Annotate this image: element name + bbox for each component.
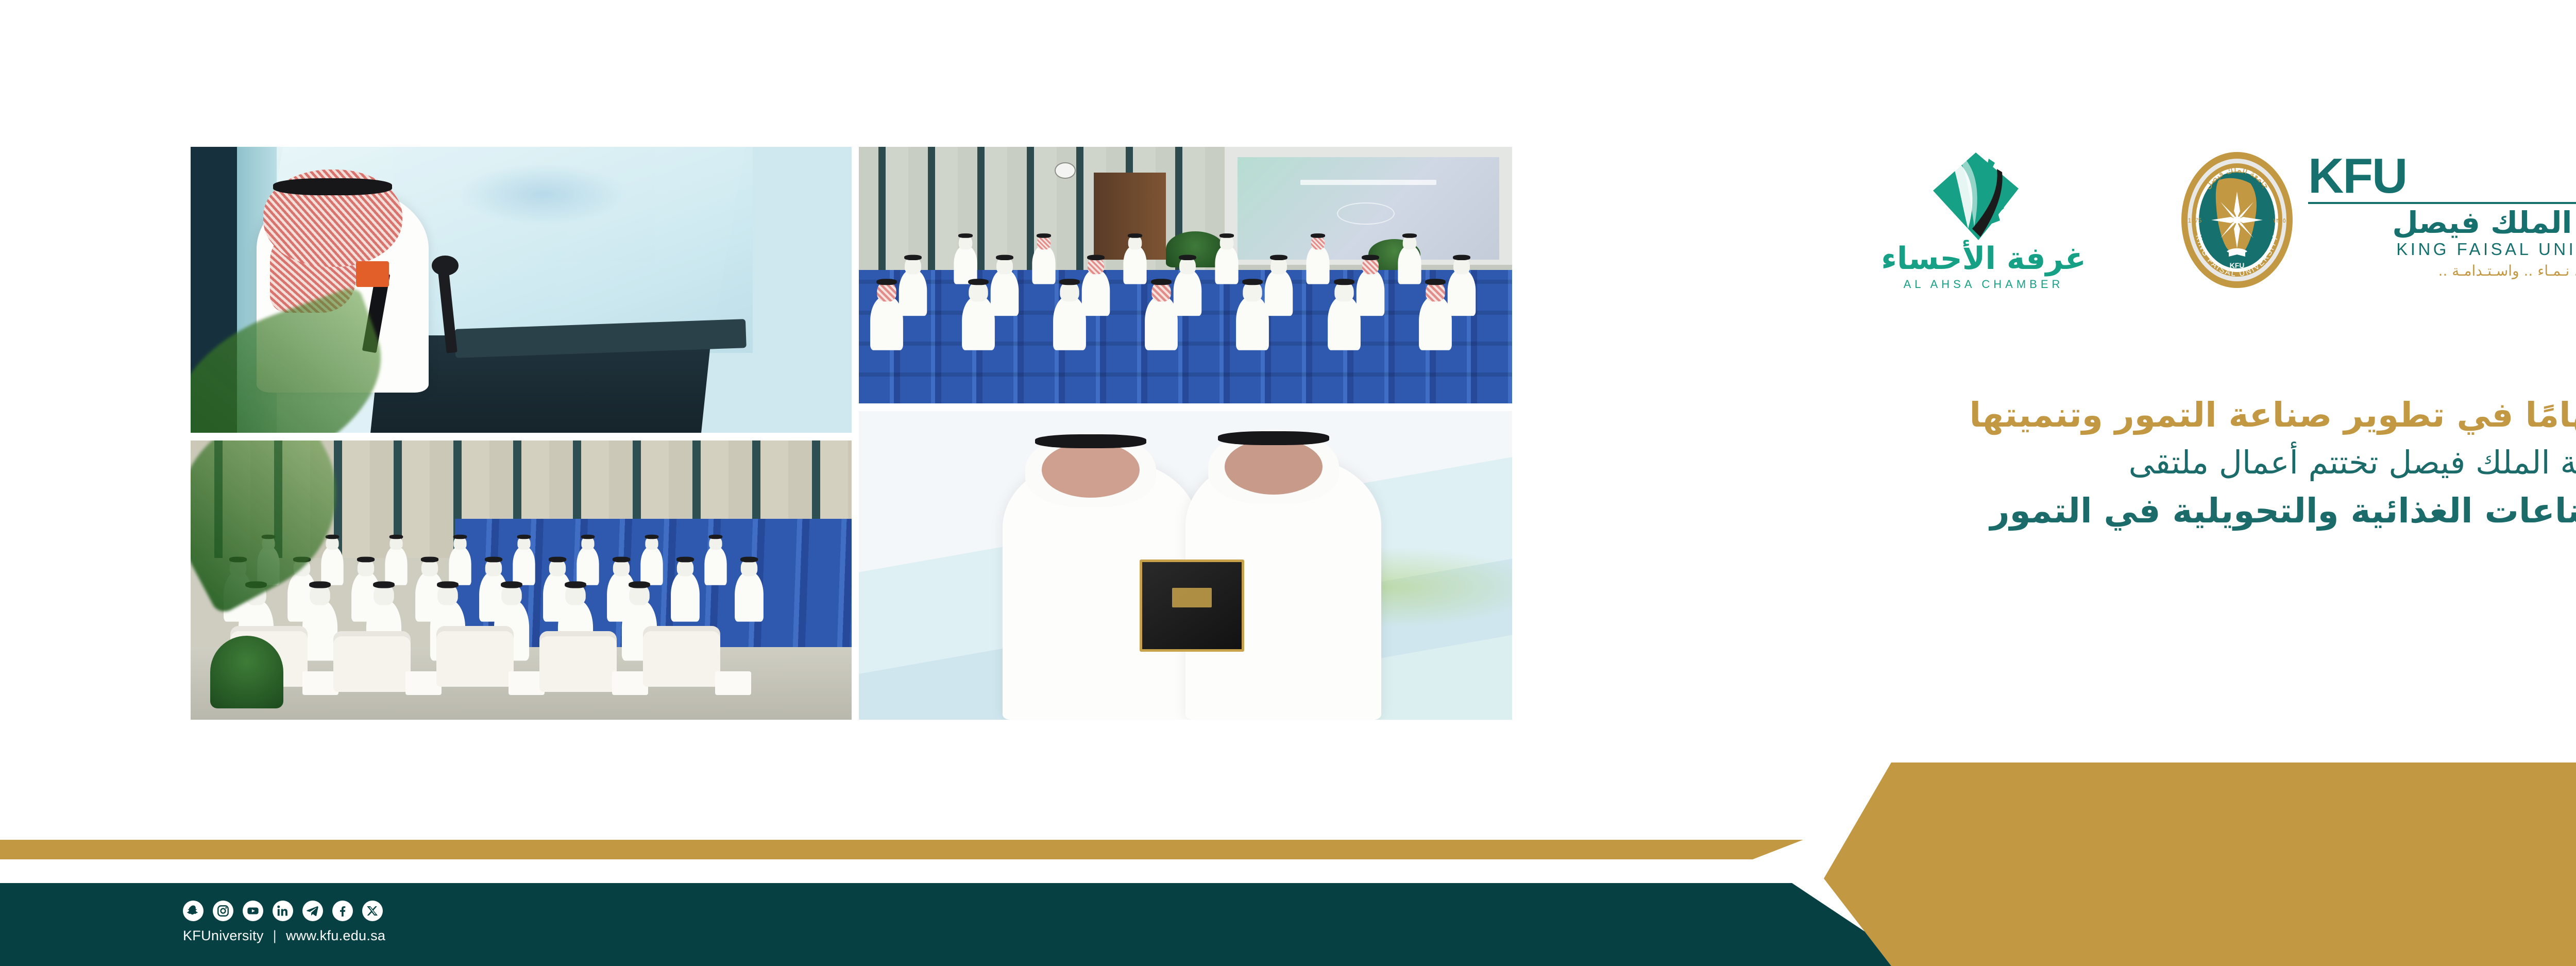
banner-root: غرفة الأحساء AL AHSA CHAMBER — [0, 0, 2576, 966]
headline-block: إسهامًا في تطوير صناعة التمور وتنميتها ج… — [1578, 392, 2576, 535]
kfu-english-name: KING FAISAL UNIVERSITY — [2308, 240, 2576, 259]
headline-line-2: جامعة الملك فيصل تختتم أعمال ملتقى — [1578, 438, 2576, 487]
telegram-icon — [306, 904, 319, 918]
kfu-tagline: جامعة ووطـن .. نـمـاء .. واسـتـدامـة .. — [2308, 262, 2576, 279]
photo-audience-hall — [859, 147, 1512, 403]
youtube-link[interactable] — [243, 901, 263, 921]
facebook-icon — [336, 904, 349, 918]
svg-text:١٣٩٥: ١٣٩٥ — [2273, 217, 2286, 224]
ahsa-arabic-name: غرفة الأحساء — [1824, 243, 2143, 275]
social-handle: KFUniversity — [183, 928, 264, 944]
kfu-arabic-name: جامعة الملك فيصل — [2308, 207, 2576, 239]
svg-text:1975: 1975 — [2188, 217, 2202, 224]
ahsa-english-name: AL AHSA CHAMBER — [1824, 278, 2143, 291]
kfu-seal-icon: KFU 1975 ١٣٩٥ جامعة الملك فيصل KING FAIS… — [2179, 150, 2295, 290]
ahsa-chamber-logo: غرفة الأحساء AL AHSA CHAMBER — [1824, 149, 2143, 304]
footer-handle-row: KFUniversity | www.kfu.edu.sa — [183, 928, 647, 944]
instagram-link[interactable] — [213, 901, 233, 921]
social-links — [183, 901, 647, 921]
footer-content: KFUniversity | www.kfu.edu.sa — [183, 901, 647, 944]
ahsa-chamber-mark-icon — [1927, 151, 2025, 242]
website-url[interactable]: www.kfu.edu.sa — [286, 928, 385, 944]
x-twitter-link[interactable] — [362, 901, 383, 921]
svg-text:KFU: KFU — [2230, 261, 2245, 269]
photo-speaker-podium — [191, 147, 852, 433]
snapchat-icon — [187, 904, 200, 918]
linkedin-link[interactable] — [273, 901, 293, 921]
gold-accent-bar — [0, 840, 1803, 859]
headline-line-3: الصناعات الغذائية والتحويلية في التمور — [1578, 487, 2576, 535]
facebook-link[interactable] — [332, 901, 353, 921]
kfu-abbreviation: KFU — [2308, 154, 2576, 199]
instagram-icon — [216, 904, 230, 918]
headline-line-1: إسهامًا في تطوير صناعة التمور وتنميتها — [1578, 392, 2576, 438]
photo-collage — [191, 147, 1512, 720]
x-icon — [366, 905, 379, 917]
gold-chevron-shape — [1824, 762, 2576, 966]
telegram-link[interactable] — [302, 901, 323, 921]
youtube-icon — [246, 904, 260, 918]
kfu-logo: KFU 1975 ١٣٩٥ جامعة الملك فيصل KING FAIS… — [2179, 149, 2576, 304]
award-plaque — [1140, 560, 1244, 652]
snapchat-link[interactable] — [183, 901, 204, 921]
linkedin-icon — [276, 904, 290, 918]
photo-award-handover — [859, 411, 1512, 720]
photo-seated-guests — [191, 440, 852, 720]
footer-separator: | — [273, 928, 277, 944]
logo-row: غرفة الأحساء AL AHSA CHAMBER — [1824, 149, 2576, 304]
